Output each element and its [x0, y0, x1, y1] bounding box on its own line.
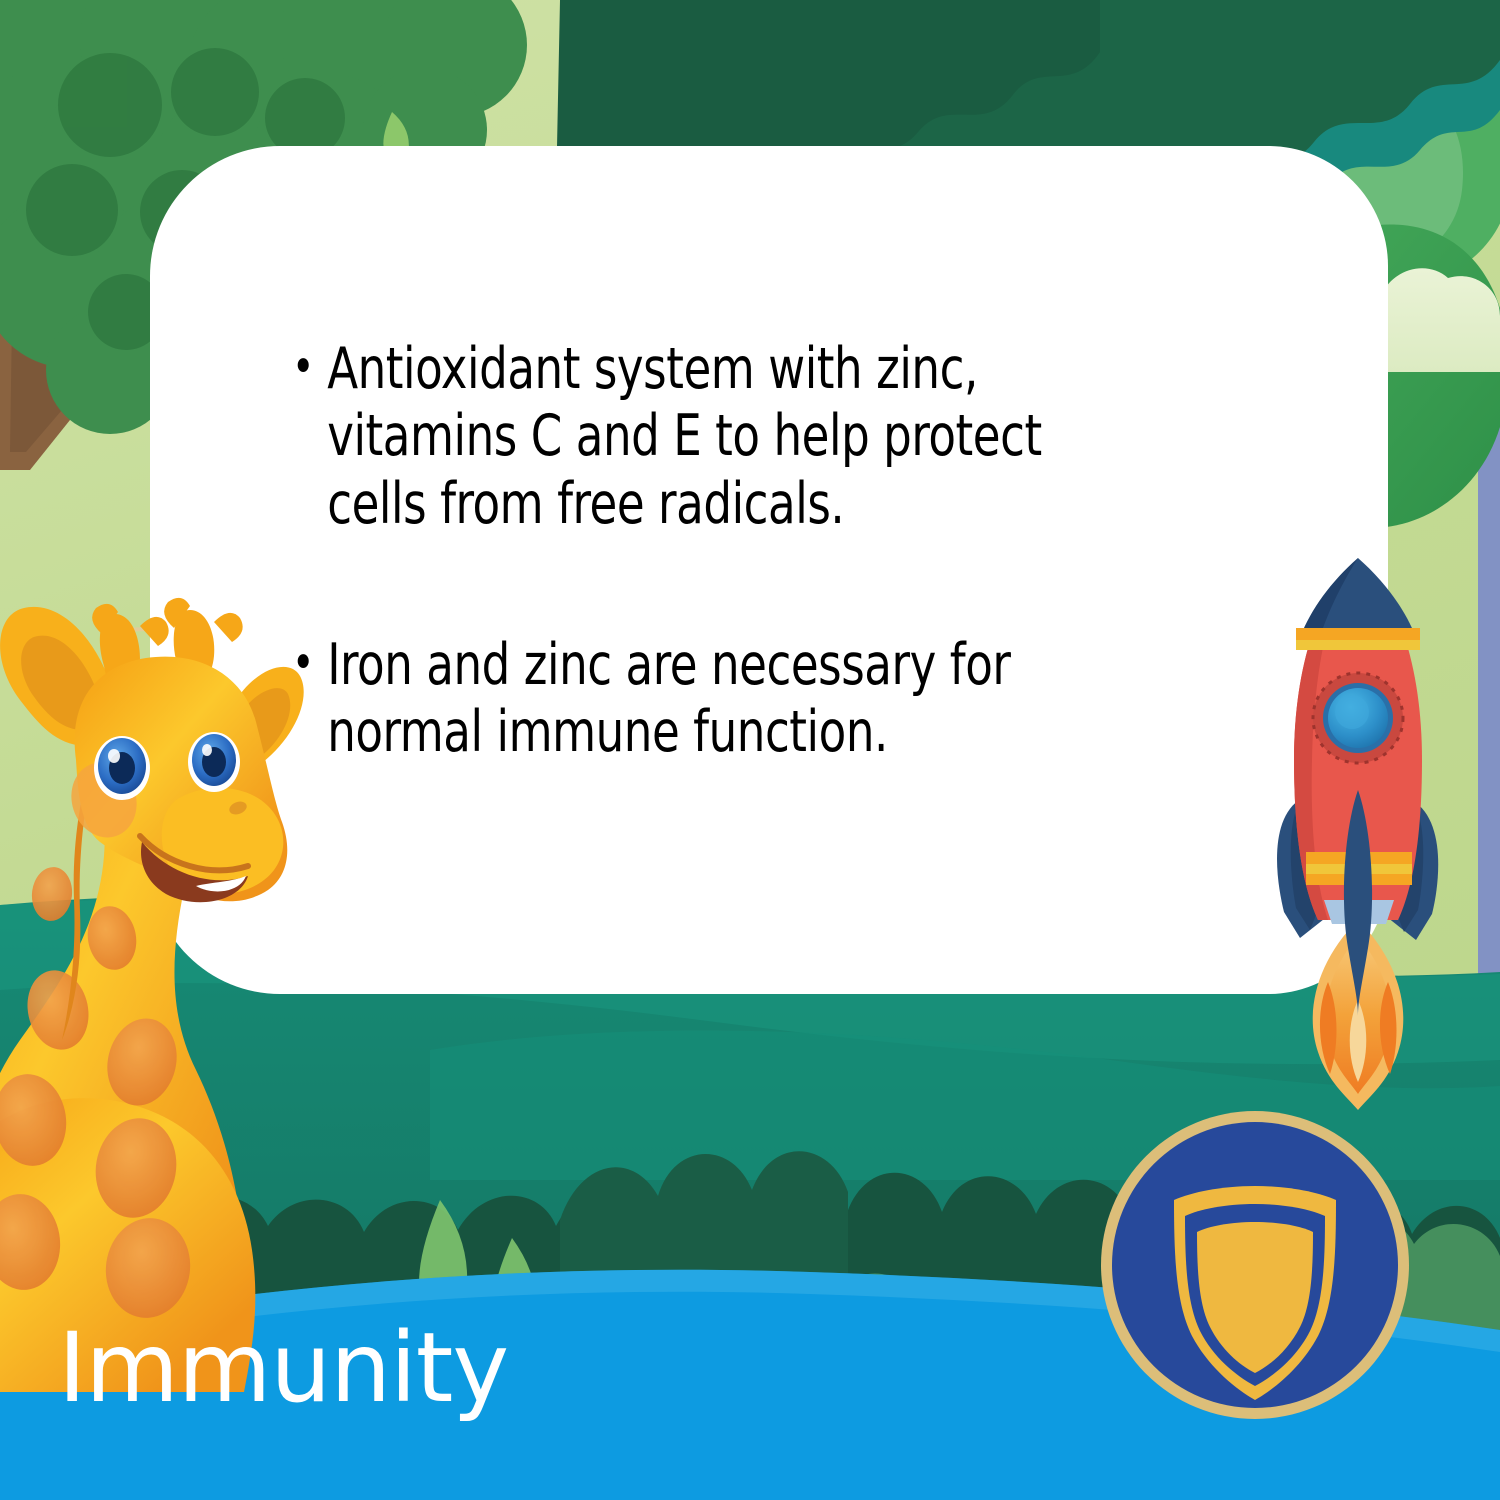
shield-badge-icon: [1098, 1108, 1412, 1422]
slide-canvas: • Antioxidant system with zinc, vitamins…: [0, 0, 1500, 1500]
page-title: Immunity: [58, 1320, 508, 1416]
shield-badge: [1098, 1108, 1412, 1422]
